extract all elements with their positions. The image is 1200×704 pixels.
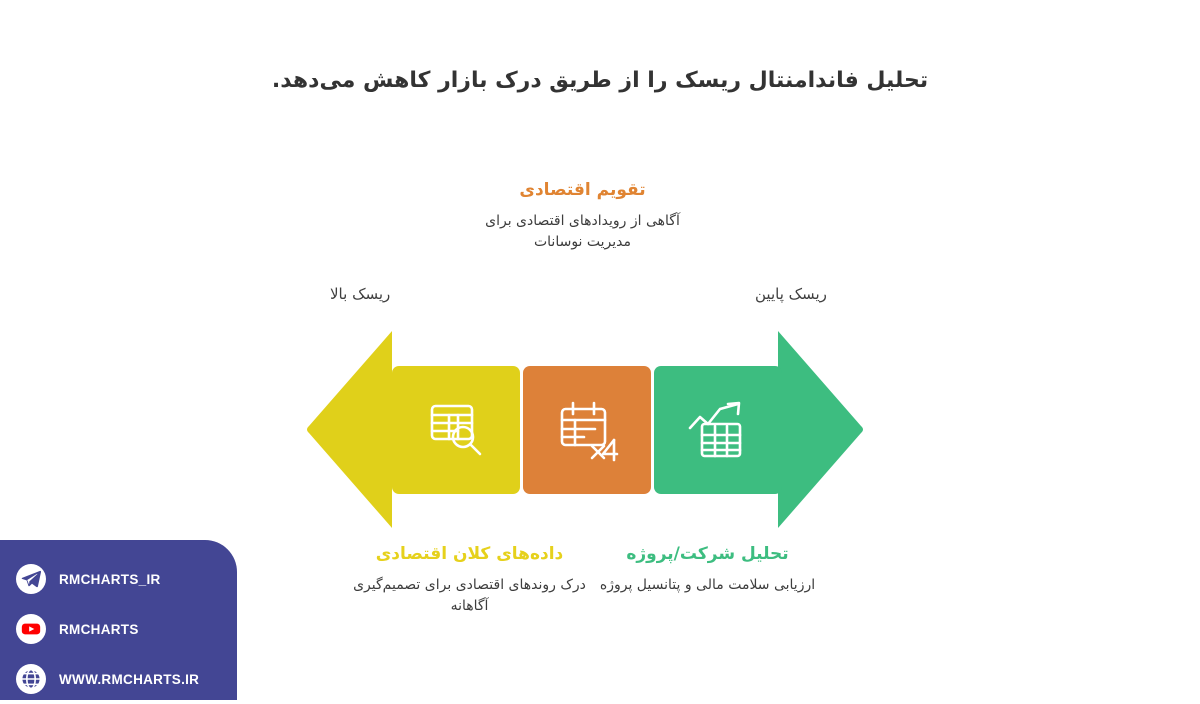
callout-description: درک روندهای اقتصادی برای تصمیم‌گیری آگاه…	[352, 575, 587, 617]
youtube-icon	[16, 614, 46, 644]
callout-heading: داده‌های کلان اقتصادی	[352, 542, 587, 567]
callout-macro-data: داده‌های کلان اقتصادی درک روندهای اقتصاد…	[352, 542, 587, 617]
branding-row-website[interactable]: WWW.RMCHARTS.IR	[0, 654, 237, 704]
branding-label: RMCHARTS	[59, 622, 139, 637]
branding-label: WWW.RMCHARTS.IR	[59, 672, 199, 687]
risk-spectrum-arrow	[307, 331, 863, 528]
right-arrow-head	[778, 331, 863, 528]
branding-label: RMCHARTS_IR	[59, 572, 161, 587]
branding-row-youtube[interactable]: RMCHARTS	[0, 604, 237, 654]
page-title: تحلیل فاندامنتال ریسک را از طریق درک باز…	[0, 68, 1200, 93]
calendar-x4-icon	[555, 398, 619, 462]
callout-description: آگاهی از رویدادهای اقتصادی برای مدیریت ن…	[470, 211, 695, 253]
globe-icon	[16, 664, 46, 694]
telegram-icon	[16, 564, 46, 594]
high-risk-label: ریسک بالا	[330, 285, 390, 303]
branding-panel: RMCHARTS_IR RMCHARTS WWW.RMCHARTS.IR	[0, 540, 237, 700]
left-arrow-head	[307, 331, 392, 528]
table-search-icon	[424, 398, 488, 462]
growth-chart-table-icon	[686, 398, 750, 462]
callout-heading: تقویم اقتصادی	[470, 178, 695, 203]
callout-description: ارزیابی سلامت مالی و پتانسیل پروژه	[590, 575, 825, 596]
branding-row-telegram[interactable]: RMCHARTS_IR	[0, 554, 237, 604]
callout-economic-calendar: تقویم اقتصادی آگاهی از رویدادهای اقتصادی…	[470, 178, 695, 253]
low-risk-label: ریسک پایین	[755, 285, 827, 303]
callout-company-analysis: تحلیل شرکت/پروژه ارزیابی سلامت مالی و پت…	[590, 542, 825, 596]
callout-heading: تحلیل شرکت/پروژه	[590, 542, 825, 567]
